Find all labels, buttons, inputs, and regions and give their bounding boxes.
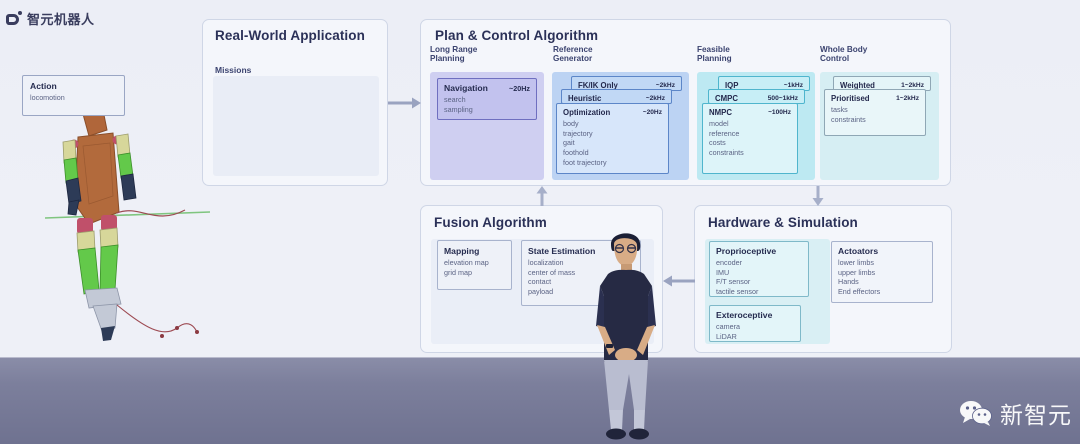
- box-action-name: Action: [30, 81, 57, 91]
- box-prioritised-freq: 1~2kHz: [896, 95, 919, 102]
- box-heuristic-name: Heuristic: [568, 94, 601, 103]
- box-nmpc-items: model reference costs constraints: [709, 119, 791, 158]
- label-reference-generator: Reference Generator: [553, 45, 593, 64]
- list-item: elevation map: [444, 258, 505, 268]
- list-item: reference: [709, 129, 791, 139]
- list-item: trajectory: [563, 129, 662, 139]
- list-item: constraints: [831, 115, 919, 125]
- box-iqp-freq: ~1kHz: [784, 82, 803, 89]
- panel-title-real-world-application: Real-World Application: [215, 28, 365, 43]
- label-whole-body-control-line2: Control: [820, 54, 867, 63]
- architecture-diagram: Real-World Application Missions Action l…: [0, 0, 1080, 444]
- list-item: gait: [563, 138, 662, 148]
- label-whole-body-control-line1: Whole Body: [820, 45, 867, 54]
- box-actuators-name: Actoators: [838, 246, 878, 256]
- list-item: tactile sensor: [716, 287, 802, 297]
- list-item: LiDAR: [716, 332, 794, 342]
- box-exteroceptive-items: camera LiDAR: [716, 322, 794, 341]
- label-feasible-planning: Feasible Planning: [697, 45, 732, 64]
- list-item: camera: [716, 322, 794, 332]
- label-missions: Missions: [215, 65, 251, 75]
- label-long-range-planning-line2: Planning: [430, 54, 477, 63]
- list-item: grid map: [444, 268, 505, 278]
- watermark-text: 新智元: [1000, 396, 1072, 430]
- box-weighted-freq: 1~2kHz: [901, 82, 924, 89]
- list-item: lower limbs: [838, 258, 926, 268]
- box-navigation-name: Navigation: [444, 83, 488, 93]
- box-proprioceptive-items: encoder IMU F/T sensor tactile sensor: [716, 258, 802, 297]
- label-long-range-planning: Long Range Planning: [430, 45, 477, 64]
- list-item: sampling: [444, 105, 530, 115]
- box-mapping-items: elevation map grid map: [444, 258, 505, 277]
- list-item: foot trajectory: [563, 158, 662, 168]
- box-navigation-freq: ~20Hz: [509, 84, 530, 93]
- box-prioritised[interactable]: Prioritised 1~2kHz tasks constraints: [824, 89, 926, 136]
- panel-title-fusion-algorithm: Fusion Algorithm: [434, 215, 547, 230]
- label-whole-body-control: Whole Body Control: [820, 45, 867, 64]
- box-proprioceptive[interactable]: Proprioceptive encoder IMU F/T sensor ta…: [709, 241, 809, 297]
- box-action-items: locomotion: [30, 93, 117, 103]
- arrow-plan-to-hardware: [811, 186, 825, 206]
- panel-real-world-application: Real-World Application Missions: [202, 19, 388, 186]
- label-reference-generator-line2: Generator: [553, 54, 593, 63]
- box-nmpc-name: NMPC: [709, 108, 732, 117]
- box-action[interactable]: Action locomotion: [22, 75, 125, 116]
- box-actuators-items: lower limbs upper limbs Hands End effect…: [838, 258, 926, 297]
- list-item: F/T sensor: [716, 277, 802, 287]
- box-cmpc-freq: 500~1kHz: [768, 95, 798, 102]
- box-navigation[interactable]: Navigation ~20Hz search sampling: [437, 78, 537, 120]
- box-optimization-name: Optimization: [563, 108, 610, 117]
- arrow-fusion-to-plan: [535, 186, 549, 206]
- box-mapping-name: Mapping: [444, 246, 479, 256]
- box-exteroceptive-name: Exteroceptive: [716, 310, 772, 320]
- list-item: upper limbs: [838, 268, 926, 278]
- label-long-range-planning-line1: Long Range: [430, 45, 477, 54]
- box-cmpc-name: CMPC: [715, 94, 738, 103]
- list-item: tasks: [831, 105, 919, 115]
- list-item: search: [444, 95, 530, 105]
- panel-title-plan-control-algorithm: Plan & Control Algorithm: [435, 28, 598, 43]
- box-heuristic[interactable]: Heuristic ~2kHz: [561, 89, 672, 104]
- list-item: Hands: [838, 277, 926, 287]
- box-actuators[interactable]: Actoators lower limbs upper limbs Hands …: [831, 241, 933, 303]
- list-item: costs: [709, 138, 791, 148]
- presenter-person: [578, 224, 674, 444]
- box-optimization-items: body trajectory gait foothold foot traje…: [563, 119, 662, 167]
- channel-watermark: 新智元: [959, 396, 1072, 430]
- box-nmpc[interactable]: NMPC ~100Hz model reference costs constr…: [702, 103, 798, 174]
- box-optimization[interactable]: Optimization ~20Hz body trajectory gait …: [556, 103, 669, 174]
- label-reference-generator-line1: Reference: [553, 45, 593, 54]
- list-item: encoder: [716, 258, 802, 268]
- box-heuristic-freq: ~2kHz: [646, 95, 665, 102]
- box-fk-ik-only-freq: ~2kHz: [656, 82, 675, 89]
- list-item: End effectors: [838, 287, 926, 297]
- label-feasible-planning-line2: Planning: [697, 54, 732, 63]
- box-proprioceptive-name: Proprioceptive: [716, 246, 776, 256]
- box-nmpc-freq: ~100Hz: [768, 109, 791, 116]
- missions-region: [213, 76, 379, 176]
- box-prioritised-items: tasks constraints: [831, 105, 919, 124]
- list-item: IMU: [716, 268, 802, 278]
- box-optimization-freq: ~20Hz: [643, 109, 662, 116]
- box-mapping[interactable]: Mapping elevation map grid map: [437, 240, 512, 290]
- box-cmpc[interactable]: CMPC 500~1kHz: [708, 89, 805, 104]
- list-item: body: [563, 119, 662, 129]
- list-item: model: [709, 119, 791, 129]
- label-feasible-planning-line1: Feasible: [697, 45, 732, 54]
- list-item: foothold: [563, 148, 662, 158]
- box-navigation-items: search sampling: [444, 95, 530, 114]
- panel-title-hardware-simulation: Hardware & Simulation: [708, 215, 858, 230]
- list-item: constraints: [709, 148, 791, 158]
- arrow-rwa-to-pca: [388, 96, 422, 110]
- box-prioritised-name: Prioritised: [831, 94, 870, 103]
- box-exteroceptive[interactable]: Exteroceptive camera LiDAR: [709, 305, 801, 342]
- wechat-icon: [959, 400, 993, 427]
